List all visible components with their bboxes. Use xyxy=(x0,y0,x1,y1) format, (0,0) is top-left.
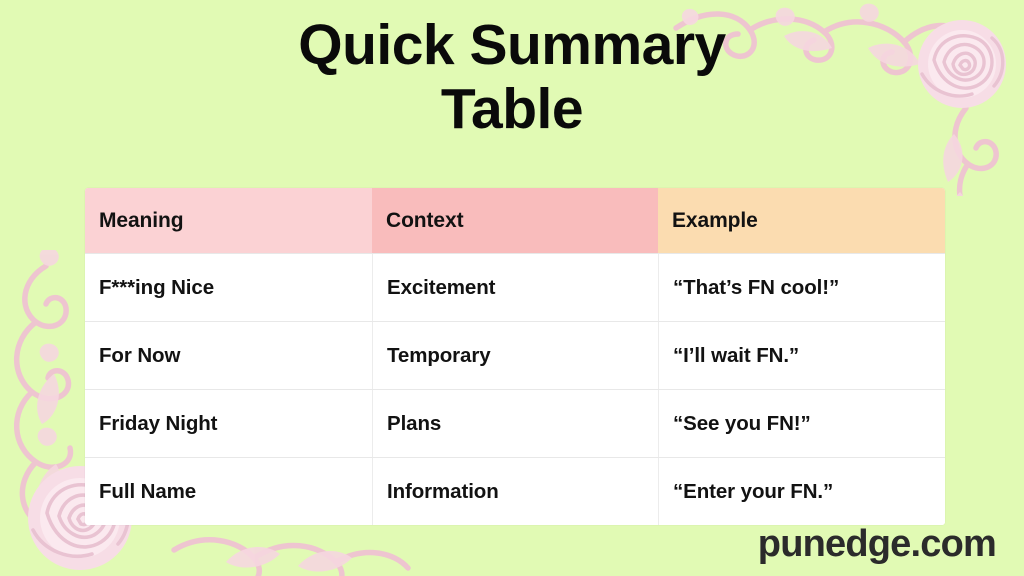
column-header-example: Example xyxy=(658,188,945,253)
table-row: For Now Temporary “I’ll wait FN.” xyxy=(85,321,945,389)
cell-meaning: Full Name xyxy=(85,458,372,525)
page-title: Quick Summary Table xyxy=(0,14,1024,142)
table-row: Full Name Information “Enter your FN.” xyxy=(85,457,945,525)
slide-canvas: Quick Summary Table Meaning Context Exam… xyxy=(0,0,1024,576)
cell-context: Plans xyxy=(372,390,658,457)
table-row: Friday Night Plans “See you FN!” xyxy=(85,389,945,457)
cell-context: Temporary xyxy=(372,322,658,389)
cell-meaning: Friday Night xyxy=(85,390,372,457)
column-header-context: Context xyxy=(372,188,658,253)
table-header-row: Meaning Context Example xyxy=(85,188,945,253)
cell-meaning: For Now xyxy=(85,322,372,389)
cell-example: “Enter your FN.” xyxy=(658,458,945,525)
summary-table: Meaning Context Example F***ing Nice Exc… xyxy=(85,188,945,525)
title-line-1: Quick Summary xyxy=(0,14,1024,78)
cell-meaning: F***ing Nice xyxy=(85,254,372,321)
column-header-meaning: Meaning xyxy=(85,188,372,253)
cell-context: Information xyxy=(372,458,658,525)
cell-context: Excitement xyxy=(372,254,658,321)
cell-example: “See you FN!” xyxy=(658,390,945,457)
cell-example: “That’s FN cool!” xyxy=(658,254,945,321)
title-line-2: Table xyxy=(0,78,1024,142)
cell-example: “I’ll wait FN.” xyxy=(658,322,945,389)
site-watermark: punedge.com xyxy=(758,523,996,566)
table-row: F***ing Nice Excitement “That’s FN cool!… xyxy=(85,253,945,321)
